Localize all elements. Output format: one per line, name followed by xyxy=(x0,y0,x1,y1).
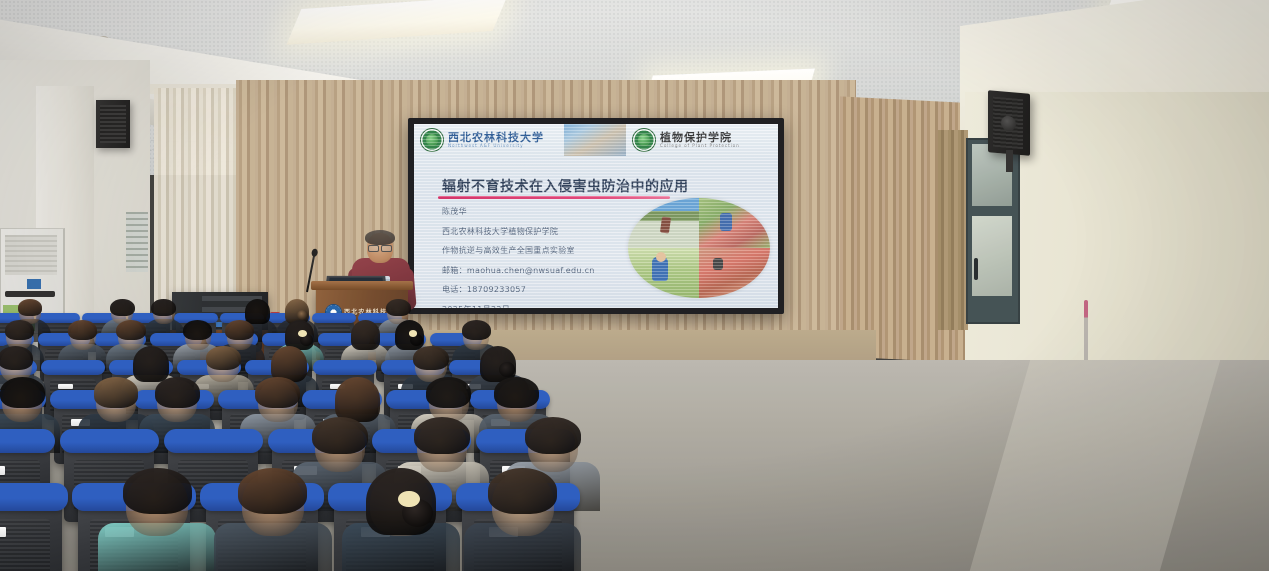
collage-photo-cotton-field xyxy=(628,198,699,248)
presenter-glasses-icon xyxy=(368,245,392,250)
college-name-cn: 植物保护学院 xyxy=(660,132,740,143)
college-name-en: College of Plant Protection xyxy=(660,143,740,148)
projection-screen: 西北农林科技大学 Northwest A&F University 植物保护学院… xyxy=(414,124,778,308)
door-handle-icon[interactable] xyxy=(974,258,978,280)
audience-hair xyxy=(271,346,307,382)
lecture-hall-photo: 西北农林科技大学 Northwest A&F University 植物保护学院… xyxy=(0,0,1269,571)
slide-line-laboratory: 作物抗逆与高效生产全国重点实验室 xyxy=(442,245,642,256)
ac-badge xyxy=(27,279,41,289)
audience-hair xyxy=(94,377,139,407)
audience-hair xyxy=(255,377,300,407)
audience-hair xyxy=(123,468,192,514)
audience-hair xyxy=(426,377,471,407)
seat-number-tag xyxy=(0,527,6,538)
speaker-bracket xyxy=(1006,150,1013,172)
audience-hair xyxy=(206,346,242,370)
mop-handle xyxy=(1084,300,1088,362)
door-side-panel xyxy=(938,130,968,330)
ac-air-outlet xyxy=(5,291,55,297)
audience-hair xyxy=(183,320,212,340)
audience-hair xyxy=(5,320,34,340)
slide-line-presenter: 陈茂华 xyxy=(442,206,642,217)
slide-photo-collage xyxy=(628,198,770,298)
audience-hair xyxy=(525,417,581,454)
door-glass-lower xyxy=(972,216,1012,296)
seat-headrest xyxy=(60,429,159,453)
audience-hair xyxy=(238,468,307,514)
audience-hair xyxy=(351,320,380,349)
audience-hair xyxy=(335,377,380,421)
ac-vent-louvers xyxy=(5,235,57,275)
audience-hair xyxy=(68,320,97,340)
audience-hair xyxy=(0,346,33,370)
audience-hair xyxy=(245,299,270,324)
seat-number-tag xyxy=(0,466,5,475)
seat-headrest xyxy=(312,313,356,323)
seat-back-mesh xyxy=(0,519,50,571)
podium-top-surface xyxy=(311,281,413,290)
collage-photo-researcher xyxy=(628,248,699,298)
seat-headrest xyxy=(313,360,377,376)
speaker-cone-icon xyxy=(1001,115,1016,131)
speaker-grille xyxy=(100,105,126,143)
audience-hair xyxy=(18,299,43,316)
slide-line-phone: 电话：18709233057 xyxy=(442,284,642,295)
seat-headrest xyxy=(0,483,68,512)
projection-screen-frame: 西北农林科技大学 Northwest A&F University 植物保护学院… xyxy=(408,118,784,314)
university-crest-icon xyxy=(420,128,444,152)
auditorium-seat[interactable] xyxy=(0,498,62,571)
audience-hair xyxy=(110,299,135,316)
slide-line-email: 邮箱：maohua.chen@nwsuaf.edu.cn xyxy=(442,265,642,276)
university-name-cn: 西北农林科技大学 xyxy=(448,132,544,143)
seat-headrest xyxy=(164,429,263,453)
slide-line-date: 2025年11月22日 xyxy=(442,304,642,309)
slide-header: 西北农林科技大学 Northwest A&F University 植物保护学院… xyxy=(414,124,778,158)
audience-hair xyxy=(225,320,254,340)
audience-hair xyxy=(312,417,368,454)
college-crest-icon xyxy=(632,128,656,152)
slide-body-lines: 陈茂华 西北农林科技大学植物保护学院 作物抗逆与高效生产全国重点实验室 邮箱：m… xyxy=(442,206,642,308)
audience-hair xyxy=(494,377,539,407)
audience-hair xyxy=(151,299,176,316)
audience-hair xyxy=(414,417,470,454)
slide-line-affiliation: 西北农林科技大学植物保护学院 xyxy=(442,226,642,237)
seat-headrest xyxy=(41,360,105,376)
audience-hair-bun xyxy=(499,362,515,377)
audience-hair xyxy=(462,320,491,340)
audience-hair xyxy=(133,346,169,382)
wall-speaker-right xyxy=(988,90,1030,156)
audience-hair xyxy=(0,377,45,407)
hair-scrunchie xyxy=(398,491,419,507)
slide-header-photo xyxy=(564,124,626,156)
audience-hair xyxy=(155,377,200,407)
collage-photo-orchard xyxy=(699,198,770,248)
audience-hair xyxy=(488,468,557,514)
slide-logo-university: 西北农林科技大学 Northwest A&F University xyxy=(420,128,544,152)
window-grille xyxy=(126,212,148,272)
audience-hair xyxy=(386,299,411,316)
audience-hair xyxy=(116,320,145,340)
audience-hair xyxy=(413,346,449,370)
seat-number-tag xyxy=(58,384,73,390)
slide-title: 辐射不育技术在入侵害虫防治中的应用 xyxy=(442,176,689,196)
slide-logo-college: 植物保护学院 College of Plant Protection xyxy=(632,128,740,152)
wall-speaker-left xyxy=(96,100,130,148)
collage-photo-chili-yard xyxy=(699,248,770,298)
seat-headrest xyxy=(0,429,55,453)
presenter-hair xyxy=(365,230,395,245)
